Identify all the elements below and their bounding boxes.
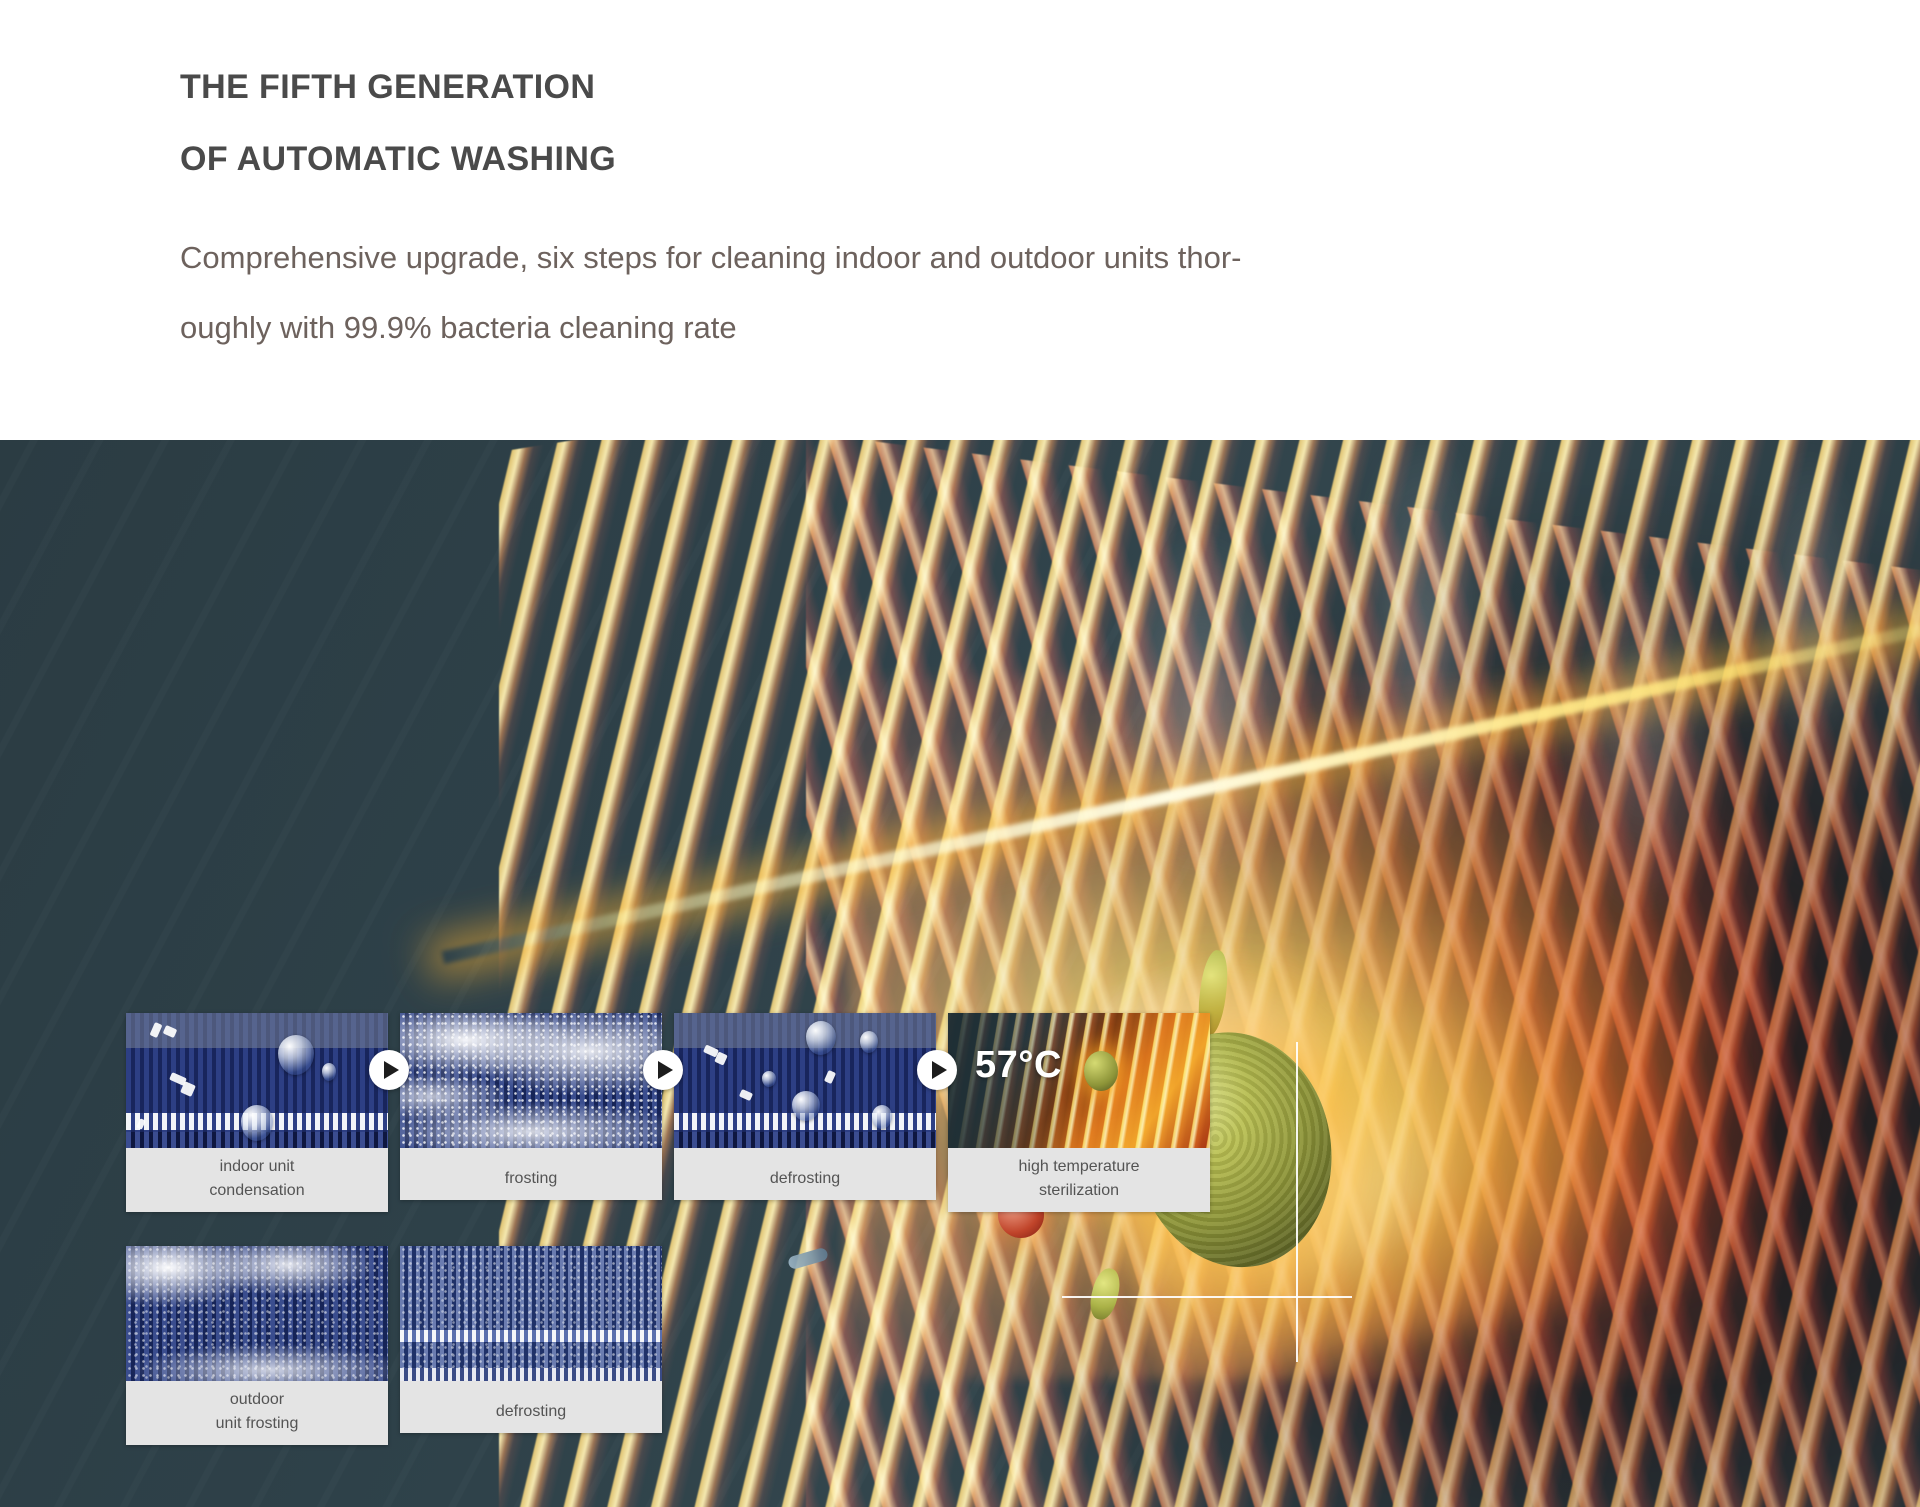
page-root: THE FIFTH GENERATION OF AUTOMATIC WASHIN… — [0, 0, 1920, 1507]
step-label-line1: high temperature — [952, 1155, 1206, 1179]
step-label-line1: defrosting — [678, 1167, 932, 1191]
step-label-frosting: frosting — [400, 1148, 662, 1200]
crosshair-vertical-line — [1296, 1042, 1298, 1362]
page-title-line1: THE FIFTH GENERATION — [180, 68, 595, 107]
step-label-sterilization: high temperature sterilization — [948, 1148, 1210, 1212]
step-connector-play-icon-3[interactable] — [917, 1050, 957, 1090]
step-connector-play-icon-1[interactable] — [369, 1050, 409, 1090]
step-label-line2: condensation — [130, 1179, 384, 1203]
page-subtitle-line2: oughly with 99.9% bacteria cleaning rate — [180, 310, 737, 346]
step-label-line1: outdoor — [130, 1388, 384, 1412]
temperature-badge: 57°C — [975, 1044, 1062, 1087]
frost-speckle — [400, 1013, 662, 1148]
step-connector-play-icon-2[interactable] — [643, 1050, 683, 1090]
fin-bottom-band — [400, 1368, 662, 1382]
page-title-line2: OF AUTOMATIC WASHING — [180, 140, 616, 179]
step-thumbnail-outdoor-frosting — [126, 1246, 388, 1381]
hero-image-section: indoor unit condensation frosting — [0, 440, 1920, 1507]
step-card-defrosting-indoor[interactable]: defrosting — [674, 1013, 936, 1200]
step-label-indoor-condensation: indoor unit condensation — [126, 1148, 388, 1212]
step-card-frosting[interactable]: frosting — [400, 1013, 662, 1200]
step-label-defrosting-outdoor: defrosting — [400, 1381, 662, 1433]
step-label-line1: frosting — [404, 1167, 658, 1191]
step-card-defrosting-outdoor[interactable]: defrosting — [400, 1246, 662, 1433]
crosshair-horizontal-line — [1062, 1296, 1352, 1298]
step-thumbnail-frosting — [400, 1013, 662, 1148]
header-section: THE FIFTH GENERATION OF AUTOMATIC WASHIN… — [0, 0, 1920, 440]
coil-fins-texture — [674, 1013, 936, 1148]
step-label-line2: unit frosting — [130, 1412, 384, 1436]
fin-bright-band — [400, 1330, 662, 1342]
step-label-line1: indoor unit — [130, 1155, 384, 1179]
step-label-outdoor-frosting: outdoor unit frosting — [126, 1381, 388, 1445]
step-label-line1: defrosting — [404, 1400, 658, 1424]
step-card-indoor-condensation[interactable]: indoor unit condensation — [126, 1013, 388, 1212]
page-subtitle-line1: Comprehensive upgrade, six steps for cle… — [180, 240, 1242, 276]
frost-speckle — [126, 1246, 388, 1381]
step-card-outdoor-frosting[interactable]: outdoor unit frosting — [126, 1246, 388, 1445]
step-label-defrosting-indoor: defrosting — [674, 1148, 936, 1200]
frost-speckle — [400, 1246, 662, 1381]
hero-smoke — [998, 440, 1920, 1102]
step-thumbnail-indoor-condensation — [126, 1013, 388, 1148]
step-thumbnail-defrosting-indoor — [674, 1013, 936, 1148]
step-card-high-temperature-sterilization[interactable]: high temperature sterilization — [948, 1013, 1210, 1212]
step-label-line2: sterilization — [952, 1179, 1206, 1203]
virus-icon-small — [1084, 1051, 1118, 1091]
step-thumbnail-defrosting-outdoor — [400, 1246, 662, 1381]
